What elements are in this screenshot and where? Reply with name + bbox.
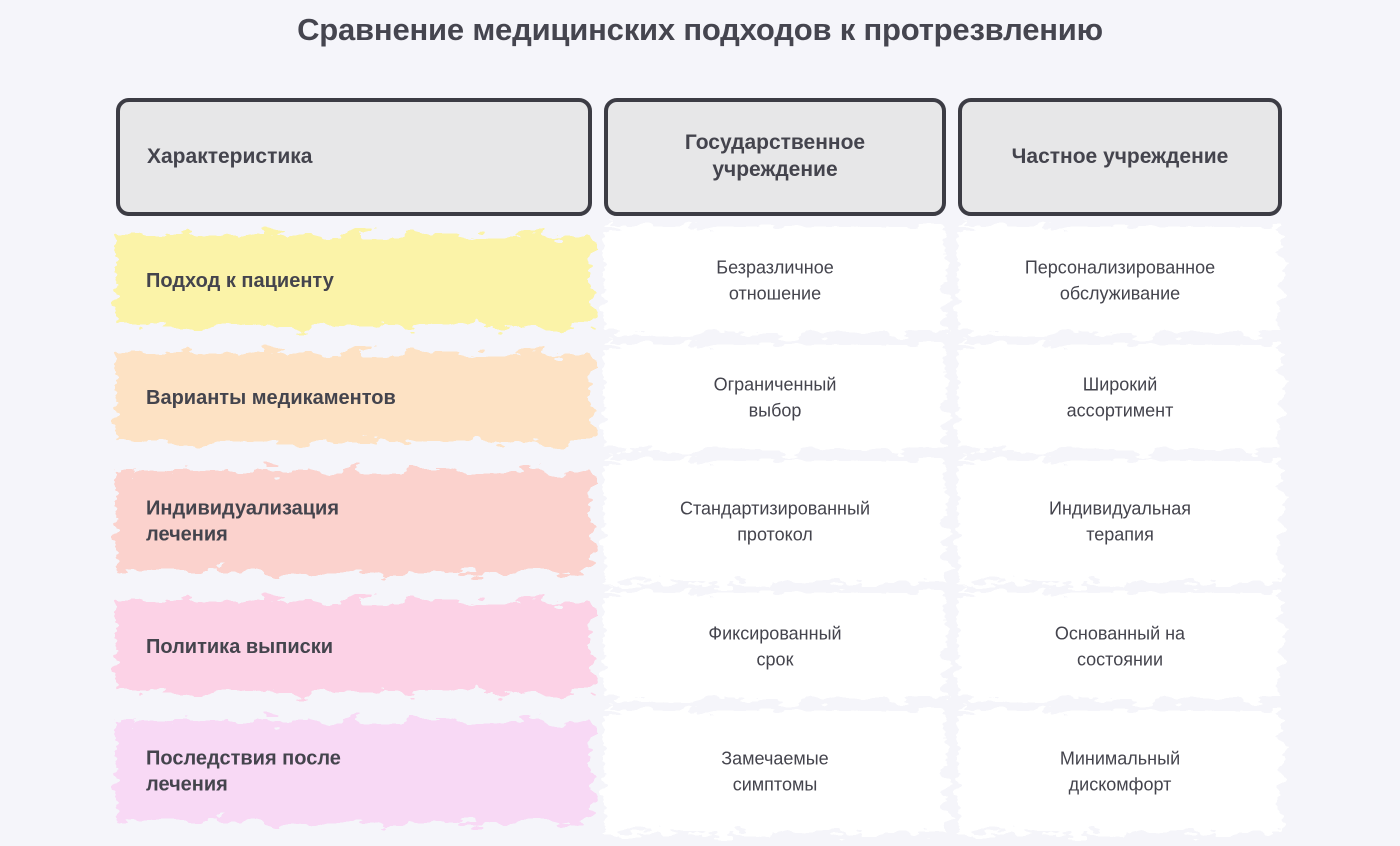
header-cell-public-institution: Государственное учреждение [604,98,946,216]
value-private: Широкий ассортимент [958,372,1282,423]
header-cell-characteristic: Характеристика [116,98,592,216]
value-public: Ограниченный выбор [604,372,946,423]
table-header-row: Характеристика Государственное учреждени… [0,88,1400,214]
comparison-table: Характеристика Государственное учреждени… [0,88,1400,846]
table-row: Подход к пациенту Безразличное отношение… [0,222,1400,340]
value-public: Безразличное отношение [604,255,946,306]
value-private: Основанный на состоянии [958,621,1282,672]
header-label-public-institution: Государственное учреждение [620,130,930,184]
header-cell-private-institution: Частное учреждение [958,98,1282,216]
table-row: Индивидуализация лечения Стандартизирова… [0,456,1400,588]
table-row: Последствия после лечения Замечаемые сим… [0,706,1400,838]
row-label: Подход к пациенту [146,268,334,294]
value-private: Минимальный дискомфорт [958,746,1282,797]
row-label: Индивидуализация лечения [146,496,339,549]
page-title: Сравнение медицинских подходов к протрез… [0,12,1400,48]
row-label: Варианты медикаментов [146,385,396,411]
row-label: Последствия после лечения [146,746,341,799]
table-row: Политика выписки Фиксированный срок Осно… [0,588,1400,706]
header-label-characteristic: Характеристика [147,144,312,171]
value-private: Персонализированное обслуживание [958,255,1282,306]
table-row: Варианты медикаментов Ограниченный выбор… [0,340,1400,456]
value-public: Фиксированный срок [604,621,946,672]
header-label-private-institution: Частное учреждение [1012,144,1229,171]
value-private: Индивидуальная терапия [958,496,1282,547]
value-public: Замечаемые симптомы [604,746,946,797]
value-public: Стандартизированный протокол [604,496,946,547]
row-label: Политика выписки [146,634,333,660]
